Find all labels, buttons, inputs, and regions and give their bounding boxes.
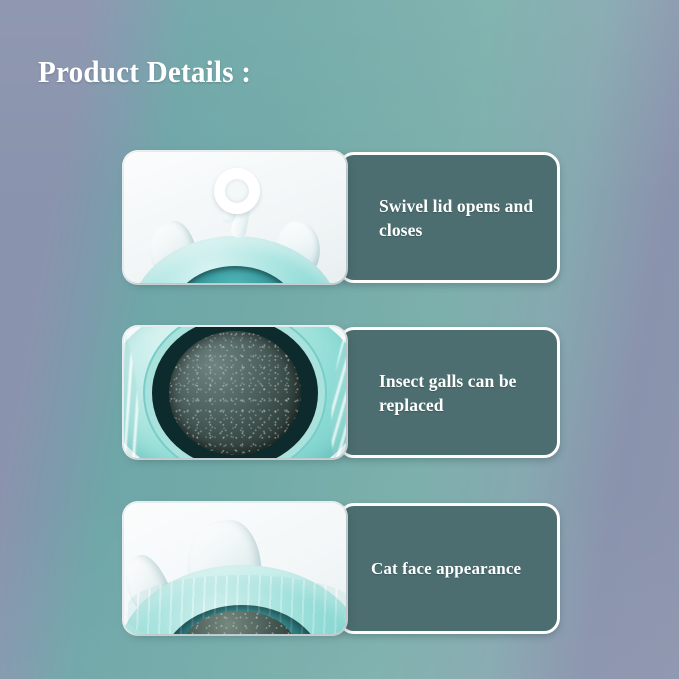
product-illustration — [124, 503, 346, 634]
product-photo-swivel-lid — [124, 152, 346, 283]
product-details-page: Product Details : Swivel lid opens and c… — [0, 0, 679, 679]
product-illustration — [124, 152, 346, 283]
pleat-texture-right — [324, 327, 346, 458]
detail-text-panel: Swivel lid opens and closes — [338, 152, 560, 283]
insect-gall-ball — [169, 331, 301, 455]
detail-text-panel: Insect galls can be replaced — [338, 327, 560, 458]
swivel-ring-icon — [214, 168, 260, 214]
insect-gall-ball — [183, 611, 295, 634]
detail-text-panel: Cat face appearance — [338, 503, 560, 634]
product-illustration — [124, 327, 346, 458]
detail-caption: Swivel lid opens and closes — [379, 194, 543, 242]
detail-card: Cat face appearance — [124, 503, 560, 634]
product-photo-insect-gall — [124, 327, 346, 458]
detail-caption: Cat face appearance — [371, 557, 543, 581]
detail-caption: Insect galls can be replaced — [379, 369, 543, 417]
detail-card: Insect galls can be replaced — [124, 327, 560, 458]
page-title: Product Details : — [38, 54, 251, 90]
detail-card: Swivel lid opens and closes — [124, 152, 560, 283]
pleat-texture-left — [124, 327, 146, 458]
product-photo-cat-face — [124, 503, 346, 634]
